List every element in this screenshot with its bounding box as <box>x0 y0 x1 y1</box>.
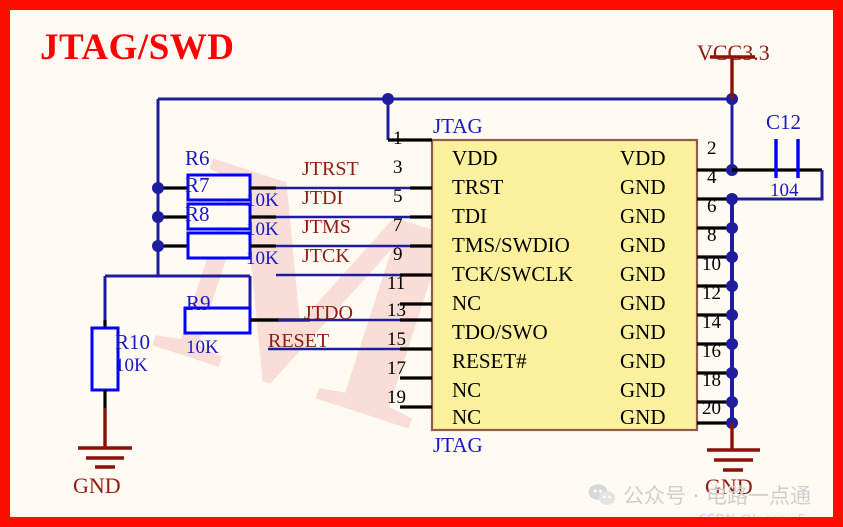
junction-dot-pin6 <box>726 222 738 234</box>
gnd-label-right: GND <box>705 474 753 500</box>
gnd-label-left: GND <box>73 473 121 499</box>
ic-ref-top: JTAG <box>433 114 483 139</box>
pin-name-nc-11: NC <box>452 291 481 316</box>
pin-name-vdd-left: VDD <box>452 146 498 171</box>
resistor-value-r9: 10K <box>186 337 219 359</box>
capacitor-ref-c12: C12 <box>766 110 801 135</box>
junction-dot-pin10 <box>726 280 738 292</box>
pin-name-gnd-12: GND <box>620 291 666 316</box>
pin-number-1: 1 <box>393 128 403 150</box>
junction-dot-top-mid <box>382 93 394 105</box>
net-label-jtrst: JTRST <box>302 158 359 181</box>
pin-name-tdi: TDI <box>452 204 487 229</box>
resistor-value-r10: 10K <box>115 355 148 377</box>
pin-name-gnd-8: GND <box>620 233 666 258</box>
gnd-symbol-right <box>707 423 760 470</box>
junction-dot-pin12 <box>726 309 738 321</box>
net-label-reset: RESET <box>268 330 329 353</box>
junction-dot-pin8 <box>726 251 738 263</box>
junction-dot-pin14 <box>726 338 738 350</box>
pin-name-gnd-16: GND <box>620 349 666 374</box>
pin-name-tdo-swo: TDO/SWO <box>452 320 548 345</box>
pin-number-4: 4 <box>707 167 717 189</box>
resistor-r8 <box>188 233 250 258</box>
net-label-jtdi: JTDI <box>302 187 343 210</box>
junction-dot-pin18 <box>726 396 738 408</box>
pin-name-gnd-6: GND <box>620 204 666 229</box>
junction-dot-r6 <box>152 182 164 194</box>
capacitor-value-c12: 104 <box>770 180 799 202</box>
pin-name-trst: TRST <box>452 175 503 200</box>
pin-name-tms-swdio: TMS/SWDIO <box>452 233 570 258</box>
junction-dot-pin16 <box>726 367 738 379</box>
pin-number-9: 9 <box>393 244 403 266</box>
net-label-jtms: JTMS <box>302 216 351 239</box>
net-label-jtck: JTCK <box>302 245 350 268</box>
resistor-ref-r10: R10 <box>115 330 150 355</box>
resistor-ref-r8: R8 <box>185 202 210 227</box>
schematic-canvas: M .w { stroke:#1d1d9e; stroke-width:3; f… <box>0 0 843 527</box>
pin-name-gnd-14: GND <box>620 320 666 345</box>
pin-number-2: 2 <box>707 138 717 160</box>
pin-number-10: 10 <box>702 254 721 276</box>
pin-name-gnd-4: GND <box>620 175 666 200</box>
resistor-value-r8: 10K <box>246 248 279 270</box>
pin-number-5: 5 <box>393 186 403 208</box>
power-label-vcc: VCC3.3 <box>697 40 770 66</box>
pin-number-6: 6 <box>707 196 717 218</box>
pin-name-vdd-right: VDD <box>620 146 666 171</box>
pin-name-nc-17: NC <box>452 378 481 403</box>
pin-number-7: 7 <box>393 215 403 237</box>
pin-name-gnd-10: GND <box>620 262 666 287</box>
pin-number-20: 20 <box>702 398 721 420</box>
resistor-ref-r6: R6 <box>185 146 210 171</box>
pin-name-tck-swclk: TCK/SWCLK <box>452 262 573 287</box>
pin-number-18: 18 <box>702 370 721 392</box>
pin-name-gnd-20: GND <box>620 405 666 430</box>
net-label-jtdo: JTDO <box>304 302 353 325</box>
pin-number-19: 19 <box>387 387 406 409</box>
pin-number-16: 16 <box>702 341 721 363</box>
pin-number-17: 17 <box>387 358 406 380</box>
pin-number-13: 13 <box>387 300 406 322</box>
resistor-ref-r7: R7 <box>185 173 210 198</box>
pin-number-11: 11 <box>387 273 405 295</box>
pin-name-gnd-18: GND <box>620 378 666 403</box>
pin-number-12: 12 <box>702 283 721 305</box>
junction-dot-r7 <box>152 211 164 223</box>
resistor-ref-r9: R9 <box>186 291 211 316</box>
resistor-value-r6: 10K <box>246 190 279 212</box>
ic-ref-bottom: JTAG <box>433 433 483 458</box>
pin-number-15: 15 <box>387 329 406 351</box>
pin-name-reset: RESET# <box>452 349 527 374</box>
pin-number-14: 14 <box>702 312 721 334</box>
pin-name-nc-19: NC <box>452 405 481 430</box>
pin-number-3: 3 <box>393 157 403 179</box>
clipped-bottom-text: 关注 · 电路一点通 · 获取更多资料 <box>18 518 499 527</box>
junction-dot-r8 <box>152 240 164 252</box>
gnd-symbol-left <box>78 408 132 467</box>
page-title: JTAG/SWD <box>40 26 235 69</box>
pin-number-8: 8 <box>707 225 717 247</box>
resistor-value-r7: 10K <box>246 219 279 241</box>
